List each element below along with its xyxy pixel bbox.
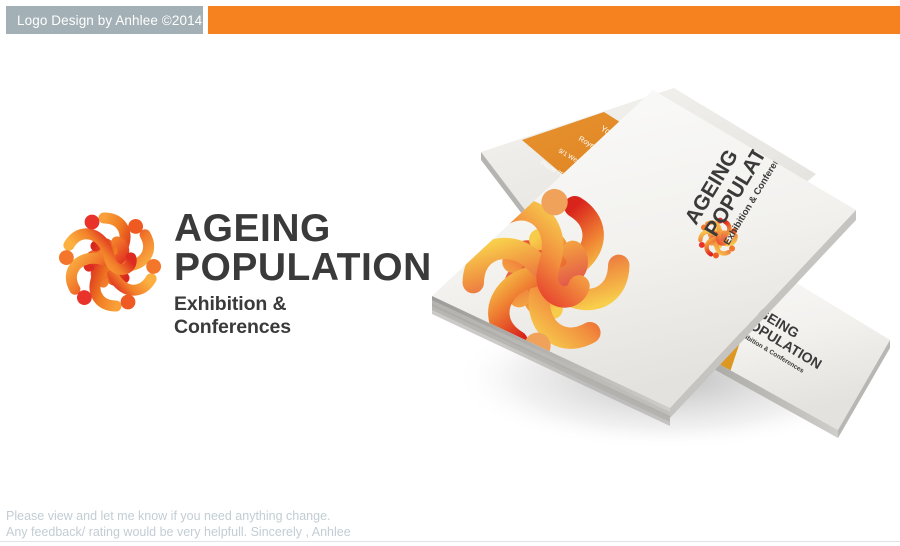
footer-line-1: Please view and let me know if you need … xyxy=(6,508,526,524)
logo-tagline: Exhibition & Conferences xyxy=(174,293,406,339)
header-bar: Logo Design by Anhlee ©2014 xyxy=(0,0,900,40)
logo-name-line-1: AGEING xyxy=(174,210,406,247)
ageing-population-star-mark-icon xyxy=(56,204,164,320)
primary-logo-lockup: AGEING POPULATION Exhibition & Conferenc… xyxy=(56,204,406,322)
footer-line-2: Any feedback/ rating would be very helpf… xyxy=(6,524,526,540)
footer-divider xyxy=(0,541,900,542)
business-card-stack-mockup: Your Name Royer Walker 9/1 West Bay Stre… xyxy=(418,78,900,450)
logo-name-line-2: POPULATION xyxy=(174,249,406,286)
credit-tab-label: Logo Design by Anhlee ©2014 xyxy=(17,13,202,28)
logo-wordmark: AGEING POPULATION Exhibition & Conferenc… xyxy=(174,210,406,339)
credit-tab: Logo Design by Anhlee ©2014 xyxy=(6,6,203,34)
footer-note: Please view and let me know if you need … xyxy=(6,508,526,540)
presentation-canvas: Logo Design by Anhlee ©2014 xyxy=(0,0,900,546)
header-accent-bar xyxy=(208,6,900,34)
